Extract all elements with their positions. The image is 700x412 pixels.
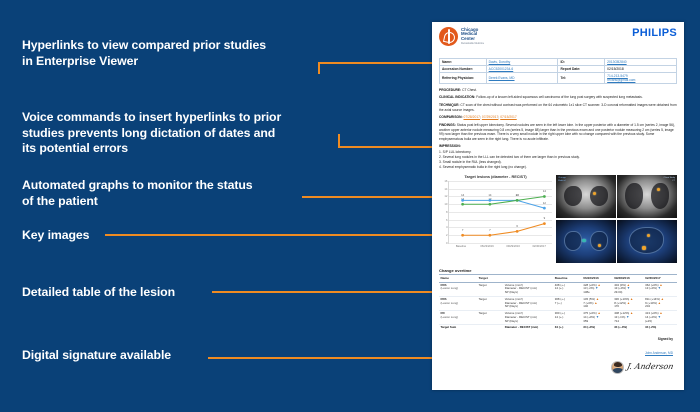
lesion-target-cell: Target — [477, 282, 503, 296]
lung-region — [564, 186, 582, 206]
patient-id-label: ID: — [558, 59, 605, 66]
lung-region — [590, 186, 608, 206]
chart-data-point[interactable] — [461, 203, 464, 206]
trend-arrow-down: ▼ — [596, 316, 599, 319]
chart-x-tick: 06/23/2016 — [474, 245, 500, 248]
chart-series-svg — [449, 181, 558, 243]
col-baseline: Baseline — [553, 275, 582, 282]
trend-arrow-down: ▼ — [595, 287, 598, 290]
lesion-value-cell-baseline: 408 (+-)14 (+-) — [553, 282, 582, 296]
chart-y-tick: 4 — [446, 225, 448, 229]
lesion-target-cell: Target — [477, 296, 503, 310]
callout-automated-graphs: Automated graphs to monitor the status o… — [22, 178, 322, 209]
impression-list: 1. S/P LUL lobectomy. 2. Several lung no… — [439, 150, 677, 170]
section-technique: TECHNIQUE: CT scan of the chest without … — [439, 103, 677, 112]
lesion-name-cell: RDS(Lesion Lung) — [439, 282, 477, 296]
section-procedure-body: CT Chest. — [461, 88, 477, 92]
report-date-label: Report Date: — [558, 66, 605, 73]
chart-plot-area: 024681012141614141312131313147769 — [448, 181, 552, 243]
col-name: Name — [439, 275, 477, 282]
prior-study-link-3[interactable]: 07/15/2017 — [500, 115, 517, 119]
trend-arrow-up: ▲ — [661, 298, 664, 301]
trend-arrow-down: ▼ — [627, 287, 630, 290]
table-row: Referring Physician: Derek Evans, MD Tel… — [440, 73, 677, 84]
target-lesions-chart: Target lesions (diameter - RECIST) 02468… — [439, 175, 552, 263]
phone-value[interactable]: 714-213-5479 revans@gmail.com — [605, 73, 677, 84]
section-impression-heading: IMPRESSION: — [439, 144, 461, 148]
signature-row: J. Anderson — [439, 361, 673, 374]
lesion-name-cell: RD(Lesion Lung) — [439, 311, 477, 325]
connector-line-voice-commands — [338, 146, 444, 148]
chart-line-lesion-3 — [463, 223, 545, 235]
accession-value[interactable]: ACC52001234-6 — [486, 66, 558, 73]
lesion-value-cell-c3: 413 (+0%) ▲14 (+0%) ▼(e15) — [644, 311, 677, 325]
lesion-metric-cell: Volume (mm³)Diameter - RECIST (mm)SP (Da… — [503, 282, 553, 296]
lung-region — [629, 227, 664, 254]
connector-line-key-images — [105, 234, 444, 236]
section-procedure: PROCEDURE: CT Chest. — [439, 88, 677, 93]
callout-voice-commands: Voice commands to insert hyperlinks to p… — [22, 110, 332, 157]
referring-physician-label: Referring Physician: — [440, 73, 487, 84]
section-comparison-heading: COMPARISON: — [439, 115, 463, 119]
phone-label: Tel: — [558, 73, 605, 84]
handwritten-signature: J. Anderson — [626, 363, 674, 371]
chart-data-point[interactable] — [543, 195, 546, 198]
connector-elbow — [318, 62, 320, 74]
referring-physician-value[interactable]: Derek Evans, MD — [486, 73, 558, 84]
section-clinical-indication-heading: CLINICAL INDICATION: — [439, 95, 475, 99]
trend-arrow-up: ▲ — [627, 302, 630, 305]
chart-data-point[interactable] — [488, 234, 491, 237]
section-procedure-heading: PROCEDURE: — [439, 88, 461, 92]
hospital-name-block: Chicago Medical Center Remarkable Medici… — [461, 28, 484, 46]
callout-digital-signature: Digital signature available — [22, 348, 252, 364]
referring-physician-link[interactable]: Derek Evans, MD — [489, 76, 515, 80]
trend-arrow-down: ▼ — [658, 316, 661, 319]
lesion-metric-cell: Volume (mm³)Diameter - RECIST (mm)SP (Da… — [503, 311, 553, 325]
lung-region — [590, 231, 608, 251]
chart-y-tick: 10 — [444, 202, 447, 206]
patient-info-table: Name: Davis, Dorothy ID: 2013GB2840 Acce… — [439, 58, 677, 84]
chart-data-point[interactable] — [516, 199, 519, 202]
section-technique-heading: TECHNIQUE: — [439, 103, 460, 107]
key-image-axial-chest-ct[interactable]: ChicagoMedical — [556, 175, 616, 218]
chart-x-tick: 02/30/2017 — [526, 245, 552, 248]
report-date-value: 02/15/2018 — [605, 66, 677, 73]
patient-id-link[interactable]: 2013GB2840 — [607, 60, 626, 64]
col-metric — [503, 275, 553, 282]
lesion-value-cell-c1: 145 (5%) ▲7 (+0%) ▲140 — [582, 296, 613, 310]
chart-title: Target lesions (diameter - RECIST) — [439, 175, 552, 179]
image-overlay-text: ChicagoMedical — [558, 177, 566, 182]
lesion-value-cell-c2: 408 (+12%) ▲13 (-1%) ▼714 — [613, 311, 644, 325]
philips-wordmark: PHILIPS — [632, 27, 677, 39]
chart-data-point[interactable] — [488, 199, 491, 202]
table-row: RD(Lesion Lung)TargetVolume (mm³)Diamete… — [439, 311, 677, 325]
key-images-grid[interactable]: ChicagoMedical Chest StudyCT — [556, 175, 677, 263]
total-cell-2: Diameter - RECIST (mm) — [503, 325, 553, 331]
chart-y-tick: 12 — [444, 194, 447, 198]
section-technique-body: CT scan of the chest without contrast wa… — [439, 103, 677, 112]
list-item: 4. Several emphysematic bulla in the rig… — [439, 165, 677, 170]
prior-study-link-1[interactable]: 07/28/2017 — [464, 115, 481, 119]
chart-x-tick: Baseline — [448, 245, 474, 248]
prior-study-link-2[interactable]: 07/29/2017 — [482, 115, 499, 119]
col-date-3: 02/30/2017 — [644, 275, 677, 282]
chart-data-point[interactable] — [461, 234, 464, 237]
total-cell-0: Target Sum — [439, 325, 477, 331]
chart-y-tick: 0 — [446, 241, 448, 245]
trend-arrow-down: ▼ — [658, 287, 661, 290]
total-cell-1 — [477, 325, 503, 331]
trend-arrow-up: ▲ — [630, 312, 633, 315]
lesion-marker[interactable] — [657, 188, 660, 191]
chart-y-tick: 2 — [446, 233, 448, 237]
lung-region — [564, 231, 582, 251]
lung-region — [625, 183, 643, 209]
trend-arrow-up: ▲ — [630, 298, 633, 301]
chart-y-tick: 14 — [444, 187, 447, 191]
lesion-marker-teal[interactable] — [582, 239, 585, 242]
signer-avatar — [611, 361, 624, 374]
section-clinical-indication-body: Follow-up of a known left-sided squamous… — [475, 95, 642, 99]
section-impression: IMPRESSION: 1. S/P LUL lobectomy. 2. Sev… — [439, 144, 677, 169]
chart-x-axis-labels: Baseline06/23/201609/29/201602/30/2017 — [448, 243, 552, 249]
lesion-value-cell-baseline: 308 (+-)7 (+-) — [553, 296, 582, 310]
lesion-value-cell-c2: 336 (+10%) ▲8 (+12%) ▲170 — [613, 296, 644, 310]
section-comparison: COMPARISON: 07/28/2017; 07/29/2017; 07/1… — [439, 115, 677, 120]
connector-elbow — [338, 134, 340, 146]
lesion-value-cell-c1: 475 (+0%) ▲14 (+0%) ▼359 — [582, 311, 613, 325]
table-row: RDS(Lesion Lung)TargetVolume (mm³)Diamet… — [439, 296, 677, 310]
key-image-coronal-chest-ct[interactable]: Chest StudyCT — [617, 175, 677, 218]
lesion-marker[interactable] — [642, 246, 645, 249]
patient-id-value[interactable]: 2013GB2840 — [605, 59, 677, 66]
chart-y-tick: 8 — [446, 210, 448, 214]
caduceus-logo-icon — [439, 27, 458, 46]
table-header-row: Name Target Baseline 06/23/2016 09/28/20… — [439, 275, 677, 282]
col-date-2: 09/28/2016 — [613, 275, 644, 282]
patient-name-label: Name: — [440, 59, 487, 66]
accession-label: Accession Number: — [440, 66, 487, 73]
lesion-value-cell-c3: 362 (+0%) ▲13 (+0%) ▼ — [644, 282, 677, 296]
section-clinical-indication: CLINICAL INDICATION: Follow-up of a know… — [439, 95, 677, 100]
hospital-brandmark: Chicago Medical Center Remarkable Medici… — [439, 27, 484, 46]
hospital-tagline: Remarkable Medicine — [461, 43, 484, 46]
col-date-1: 06/23/2016 — [582, 275, 613, 282]
lesion-value-cell-c3: 811 (+14%) ▲9 (+10%) ▲204 — [644, 296, 677, 310]
signer-name-link[interactable]: John Anderson, MD — [645, 351, 673, 355]
lesion-value-cell-c1: 428 (+0%) ▲13 (-2%) ▼138e — [582, 282, 613, 296]
chart-y-tick: 16 — [444, 179, 447, 183]
table-row: RDS(Lesion Lung)TargetVolume (mm³)Diamet… — [439, 282, 677, 296]
change-table-body: RDS(Lesion Lung)TargetVolume (mm³)Diamet… — [439, 282, 677, 331]
total-cell-4: 34 (+0%) — [582, 325, 613, 331]
hospital-name: Chicago Medical Center — [461, 28, 484, 42]
image-overlay-text: Chest StudyCT — [664, 177, 675, 182]
trend-arrow-up: ▲ — [658, 302, 661, 305]
total-cell-5: 34 (+-0%) — [613, 325, 644, 331]
document-header: Chicago Medical Center Remarkable Medici… — [439, 27, 677, 57]
digital-signature-block: Signed by John Anderson, MD J. Anderson — [439, 337, 677, 374]
change-overtime-table: Name Target Baseline 06/23/2016 09/28/20… — [439, 274, 677, 331]
patient-name-link[interactable]: Davis, Dorothy — [489, 60, 511, 64]
callout-hyperlinks-enterprise-viewer: Hyperlinks to view compared prior studie… — [22, 38, 322, 69]
total-cell-3: 34 (+-) — [553, 325, 582, 331]
table-total-row: Target SumDiameter - RECIST (mm)34 (+-)3… — [439, 325, 677, 331]
lesion-marker[interactable] — [598, 244, 601, 247]
section-findings-heading: FINDINGS: — [439, 123, 456, 127]
connector-line-graphs — [302, 196, 444, 198]
patient-name-value[interactable]: Davis, Dorothy — [486, 59, 558, 66]
accession-link[interactable]: ACC52001234-6 — [489, 67, 514, 71]
trend-arrow-up: ▲ — [594, 302, 597, 305]
lung-region — [651, 183, 669, 209]
col-target: Target — [477, 275, 503, 282]
chart-data-point[interactable] — [488, 203, 491, 206]
change-table-title: Change overtime — [439, 268, 677, 273]
table-row: Name: Davis, Dorothy ID: 2013GB2840 — [440, 59, 677, 66]
lesion-target-cell: Target — [477, 311, 503, 325]
section-findings: FINDINGS: Status post left upper lobecto… — [439, 123, 677, 141]
chart-and-images-row: Target lesions (diameter - RECIST) 02468… — [439, 175, 677, 263]
trend-arrow-down: ▼ — [626, 316, 629, 319]
radiology-report-document: Chicago Medical Center Remarkable Medici… — [432, 22, 684, 390]
table-row: Accession Number: ACC52001234-6 Report D… — [440, 66, 677, 73]
connector-line-hyperlinks — [318, 62, 444, 64]
key-image-axial-colorized[interactable] — [556, 220, 616, 263]
chart-data-point[interactable] — [516, 230, 519, 233]
chart-y-tick: 6 — [446, 218, 448, 222]
section-findings-body: Status post left upper lobectomy. Severa… — [439, 123, 675, 141]
connector-line-table — [212, 291, 444, 293]
lesion-name-cell: RDS(Lesion Lung) — [439, 296, 477, 310]
email-link[interactable]: revans@gmail.com — [607, 78, 635, 82]
key-image-axial-colorized-2[interactable] — [617, 220, 677, 263]
lesion-metric-cell: Volume (mm³)Diameter - RECIST (mm)SP (Da… — [503, 296, 553, 310]
chart-data-point[interactable] — [461, 199, 464, 202]
chart-x-tick: 09/29/2016 — [500, 245, 526, 248]
lesion-value-cell-c2: 404 (0%) ▲13 (+0%) ▼29.04) — [613, 282, 644, 296]
chart-data-point[interactable] — [543, 222, 546, 225]
total-cell-6: 34 (-2%) — [644, 325, 677, 331]
chart-data-point[interactable] — [543, 207, 546, 210]
lesion-value-cell-baseline: 300 (+-)14 (+-) — [553, 311, 582, 325]
